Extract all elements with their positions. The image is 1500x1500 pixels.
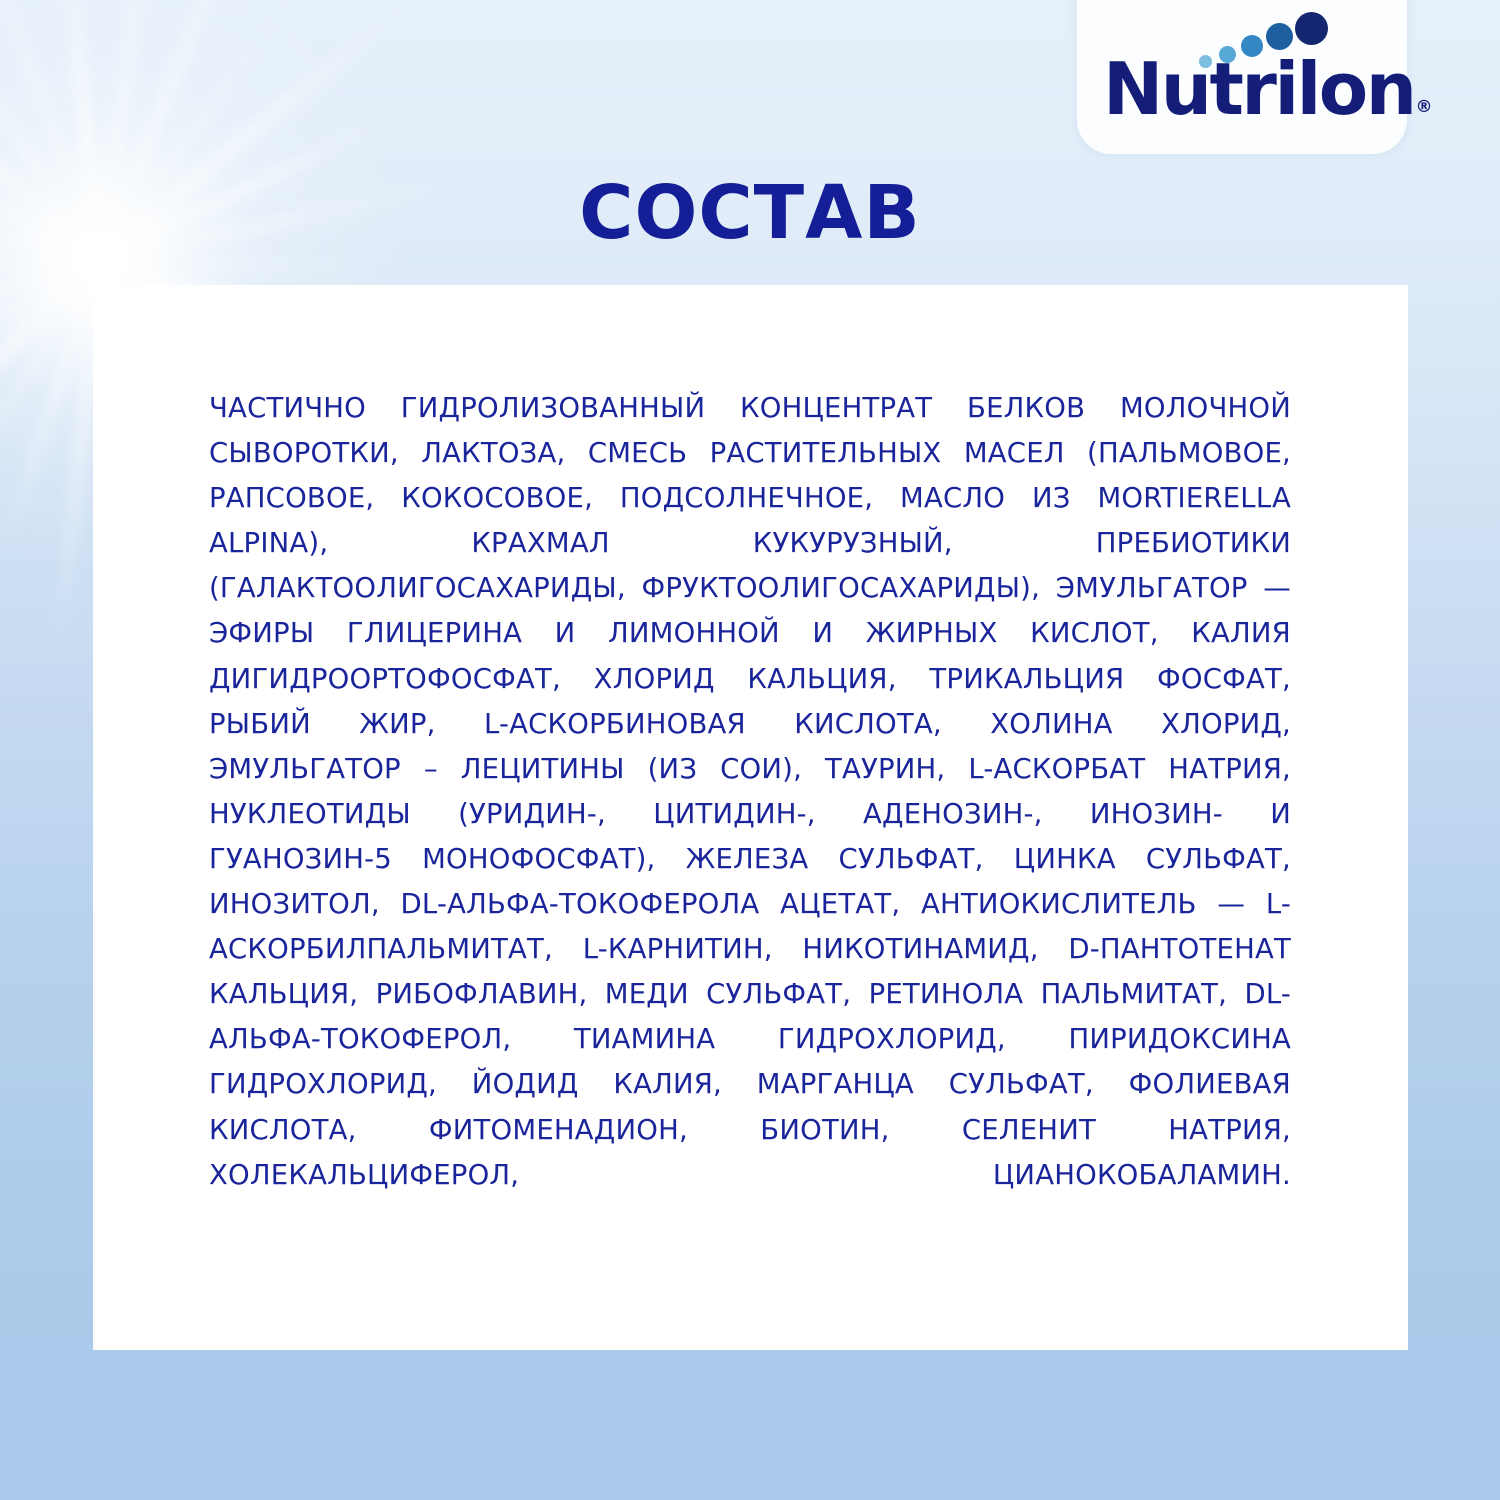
product-info-page: Nutrilon® СОСТАВ ЧАСТИЧНО ГИДРОЛИЗОВАННЫ…: [0, 0, 1500, 1500]
brand-logo-inner: Nutrilon®: [1077, 12, 1407, 132]
content-card: ЧАСТИЧНО ГИДРОЛИЗОВАННЫЙ КОНЦЕНТРАТ БЕЛК…: [93, 285, 1408, 1350]
sunburst-ray: [0, 252, 102, 371]
brand-wordmark: Nutrilon®: [1103, 46, 1393, 132]
sunburst-ray: [0, 258, 107, 551]
registered-trademark-icon: ®: [1416, 97, 1433, 117]
sunburst-ray: [100, 255, 400, 275]
brand-wordmark-text: Nutrilon: [1103, 47, 1415, 131]
page-title: СОСТАВ: [0, 168, 1500, 258]
brand-dot-5: [1295, 12, 1328, 45]
sunburst-ray: [0, 254, 100, 281]
ingredients-list-text: ЧАСТИЧНО ГИДРОЛИЗОВАННЫЙ КОНЦЕНТРАТ БЕЛК…: [209, 386, 1291, 1243]
sunburst-ray: [0, 257, 104, 565]
sunburst-ray: [0, 251, 105, 430]
brand-logo-card: Nutrilon®: [1077, 0, 1407, 154]
